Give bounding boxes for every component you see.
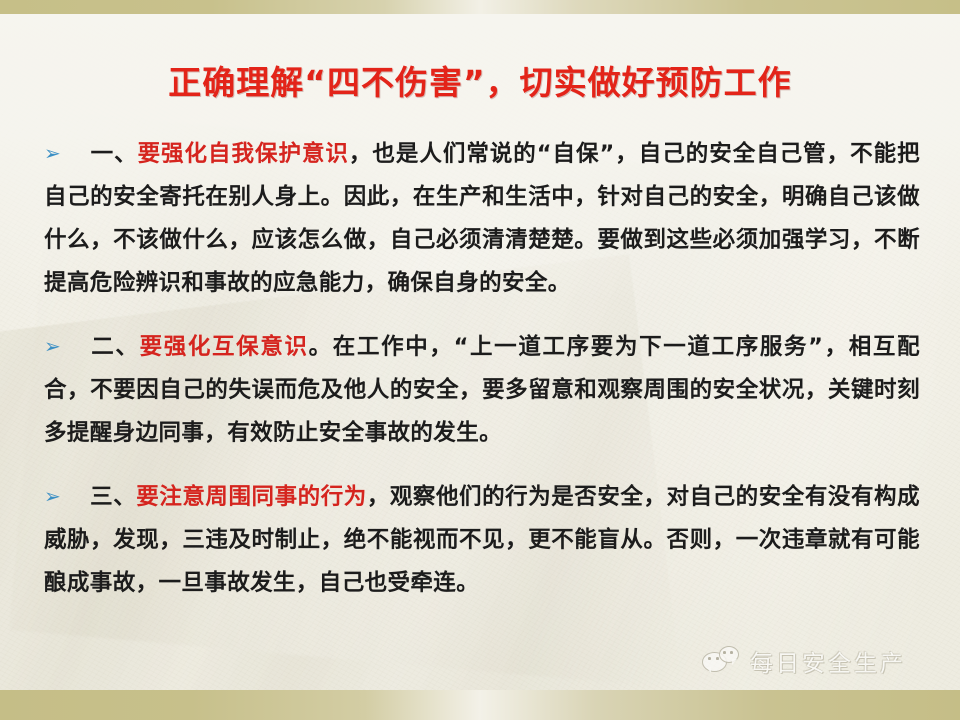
paragraph-highlight-1: 要强化自我保护意识 — [138, 141, 349, 167]
wechat-icon-dot-3 — [723, 651, 726, 654]
wechat-icon-tail-small — [732, 659, 737, 665]
title-container: 正确理解“四不伤害”，切实做好预防工作 — [0, 56, 960, 104]
paragraph-number-2: 二、 — [90, 334, 140, 360]
bottom-accent-bar — [0, 690, 960, 720]
bullet-arrow-icon-3: ➢ — [44, 475, 64, 518]
wechat-icon-dot-2 — [716, 657, 719, 660]
paragraph-block-2: ➢二、要强化互保意识。在工作中，“上一道工序要为下一道工序服务”，相互配合，不要… — [44, 325, 920, 455]
wechat-icon-dot-1 — [708, 657, 711, 660]
watermark: 每日安全生产 — [702, 644, 906, 678]
paragraph-text-3: ➢三、要注意周围同事的行为，观察他们的行为是否安全，对自己的安全有没有构成威胁，… — [44, 475, 920, 605]
paragraph-block-1: ➢一、要强化自我保护意识，也是人们常说的“自保”，自己的安全自己管，不能把自己的… — [44, 132, 920, 305]
paragraph-highlight-2: 要强化互保意识 — [140, 334, 309, 360]
page-title: 正确理解“四不伤害”，切实做好预防工作 — [168, 56, 791, 104]
wechat-icon-tail-large — [706, 667, 711, 673]
wechat-icon — [702, 646, 740, 676]
watermark-label: 每日安全生产 — [750, 644, 906, 678]
bullet-arrow-icon-1: ➢ — [44, 132, 64, 175]
paragraph-highlight-3: 要注意周围同事的行为 — [136, 484, 367, 510]
paragraph-block-3: ➢三、要注意周围同事的行为，观察他们的行为是否安全，对自己的安全有没有构成威胁，… — [44, 475, 920, 605]
bullet-arrow-icon-2: ➢ — [44, 325, 64, 368]
paragraph-text-1: ➢一、要强化自我保护意识，也是人们常说的“自保”，自己的安全自己管，不能把自己的… — [44, 132, 920, 305]
body-content: ➢一、要强化自我保护意识，也是人们常说的“自保”，自己的安全自己管，不能把自己的… — [44, 132, 920, 625]
top-accent-bar — [0, 0, 960, 14]
paragraph-text-2: ➢二、要强化互保意识。在工作中，“上一道工序要为下一道工序服务”，相互配合，不要… — [44, 325, 920, 455]
slide-canvas: 正确理解“四不伤害”，切实做好预防工作 ➢一、要强化自我保护意识，也是人们常说的… — [0, 0, 960, 720]
paragraph-number-3: 三、 — [90, 484, 136, 510]
paragraph-number-1: 一、 — [90, 141, 138, 167]
wechat-icon-dot-4 — [730, 651, 733, 654]
